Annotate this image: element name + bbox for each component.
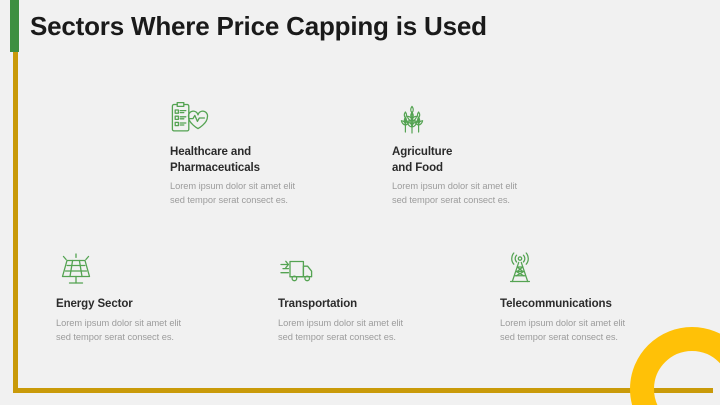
page-title: Sectors Where Price Capping is Used [30, 11, 487, 42]
sector-desc-line2: sed tempor serat consect es. [392, 195, 510, 205]
sector-description: Lorem ipsum dolor sit amet elit sed temp… [278, 316, 493, 345]
sector-desc-line1: Lorem ipsum dolor sit amet elit [392, 181, 517, 191]
slide-canvas: Sectors Where Price Capping is Used [0, 0, 720, 405]
clipboard-heart-icon [170, 100, 385, 136]
sector-desc-line2: sed tempor serat consect es. [56, 332, 174, 342]
sector-card-agriculture[interactable]: Agriculture and Food Lorem ipsum dolor s… [392, 100, 607, 208]
sector-card-telecommunications[interactable]: Telecommunications Lorem ipsum dolor sit… [500, 252, 715, 344]
sector-description: Lorem ipsum dolor sit amet elit sed temp… [170, 179, 385, 208]
sector-desc-line1: Lorem ipsum dolor sit amet elit [500, 318, 625, 328]
sector-heading-line2: Pharmaceuticals [170, 162, 260, 174]
sector-heading: Energy Sector [56, 297, 271, 313]
sector-desc-line2: sed tempor serat consect es. [170, 195, 288, 205]
gold-horizontal-rule [13, 388, 713, 393]
sector-card-transportation[interactable]: Transportation Lorem ipsum dolor sit ame… [278, 252, 493, 344]
sector-heading-line2: and Food [392, 162, 443, 174]
sector-desc-line1: Lorem ipsum dolor sit amet elit [278, 318, 403, 328]
sector-heading-line1: Telecommunications [500, 298, 612, 310]
sector-row-bottom: Energy Sector Lorem ipsum dolor sit amet… [0, 252, 720, 362]
sector-description: Lorem ipsum dolor sit amet elit sed temp… [500, 316, 715, 345]
solar-panel-icon [56, 252, 271, 288]
sector-heading-line1: Agriculture [392, 146, 452, 158]
sector-heading: Healthcare and Pharmaceuticals [170, 145, 385, 176]
sector-description: Lorem ipsum dolor sit amet elit sed temp… [56, 316, 271, 345]
sector-heading-line1: Transportation [278, 298, 357, 310]
sector-desc-line1: Lorem ipsum dolor sit amet elit [56, 318, 181, 328]
sector-desc-line2: sed tempor serat consect es. [278, 332, 396, 342]
sector-heading-line1: Healthcare and [170, 146, 251, 158]
sector-heading-line1: Energy Sector [56, 298, 133, 310]
radio-tower-icon [500, 252, 715, 288]
sector-card-healthcare[interactable]: Healthcare and Pharmaceuticals Lorem ips… [170, 100, 385, 208]
sector-row-top: Healthcare and Pharmaceuticals Lorem ips… [0, 100, 720, 210]
sector-desc-line1: Lorem ipsum dolor sit amet elit [170, 181, 295, 191]
sector-card-energy[interactable]: Energy Sector Lorem ipsum dolor sit amet… [56, 252, 271, 344]
sector-heading: Telecommunications [500, 297, 715, 313]
green-accent-bar [10, 0, 19, 52]
sector-description: Lorem ipsum dolor sit amet elit sed temp… [392, 179, 607, 208]
wheat-icon [392, 100, 607, 136]
delivery-truck-icon [278, 252, 493, 288]
sector-heading: Transportation [278, 297, 493, 313]
sector-desc-line2: sed tempor serat consect es. [500, 332, 618, 342]
sector-heading: Agriculture and Food [392, 145, 607, 176]
